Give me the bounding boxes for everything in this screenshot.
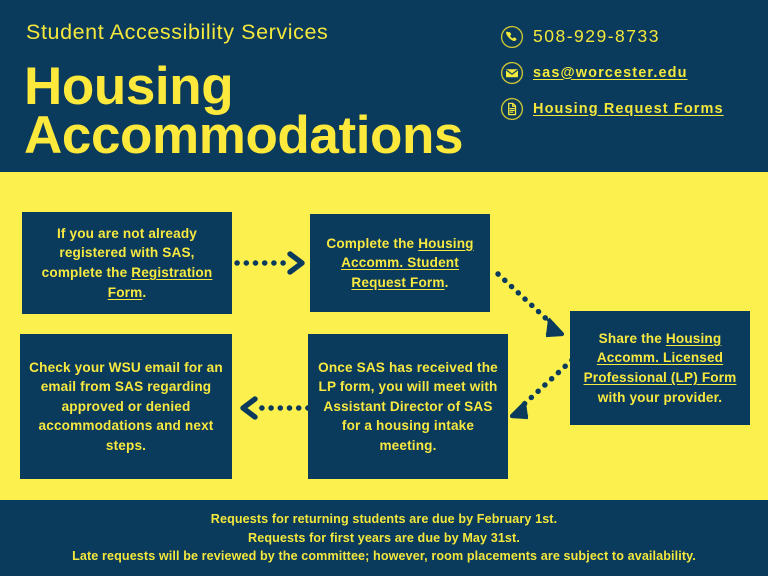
step-student-request-form: Complete the Housing Accomm. Student Req… (310, 214, 490, 312)
housing-request-forms-link[interactable]: Housing Request Forms (533, 101, 724, 117)
arrow-box5-to-box4 (234, 394, 312, 422)
step-intake-meeting-text: Once SAS has received the LP form, you w… (316, 358, 500, 456)
envelope-icon (500, 61, 524, 85)
step-check-email: Check your WSU email for an email from S… (20, 334, 232, 479)
page-title: Housing Accommodations (24, 62, 544, 161)
page-title-line-2: Accommodations (24, 111, 544, 160)
poster: Student Accessibility Services Housing A… (0, 0, 768, 576)
footer-line-returning-students: Requests for returning students are due … (211, 510, 557, 529)
step-share-lp-form: Share the Housing Accomm. Licensed Profe… (570, 311, 750, 425)
arrow-box3-to-box5 (500, 354, 582, 424)
step-share-lp-form-text: Share the Housing Accomm. Licensed Profe… (578, 329, 742, 407)
contact-forms[interactable]: Housing Request Forms (500, 92, 762, 125)
footer-line-first-years: Requests for first years are due by May … (248, 529, 520, 548)
contact-list: 508-929-8733 sas@worcester.edu (500, 20, 762, 128)
step-intake-meeting: Once SAS has received the LP form, you w… (308, 334, 508, 479)
document-icon (500, 97, 524, 121)
footer-line-late-requests: Late requests will be reviewed by the co… (72, 547, 696, 566)
contact-email[interactable]: sas@worcester.edu (500, 56, 762, 89)
header-band: Student Accessibility Services Housing A… (0, 0, 768, 172)
email-address-link[interactable]: sas@worcester.edu (533, 65, 688, 81)
step-student-request-form-text: Complete the Housing Accomm. Student Req… (318, 234, 482, 293)
phone-icon (500, 25, 524, 49)
arrow-box1-to-box2 (234, 249, 310, 277)
step-registration-text: If you are not already registered with S… (30, 224, 224, 302)
arrow-box2-to-box3 (492, 268, 576, 346)
step-registration: If you are not already registered with S… (22, 212, 232, 314)
footer-band: Requests for returning students are due … (0, 500, 768, 576)
flowchart-area: If you are not already registered with S… (0, 172, 768, 500)
phone-number: 508-929-8733 (533, 26, 660, 47)
contact-phone: 508-929-8733 (500, 20, 762, 53)
step-check-email-text: Check your WSU email for an email from S… (28, 358, 224, 456)
organization-name: Student Accessibility Services (26, 20, 328, 45)
